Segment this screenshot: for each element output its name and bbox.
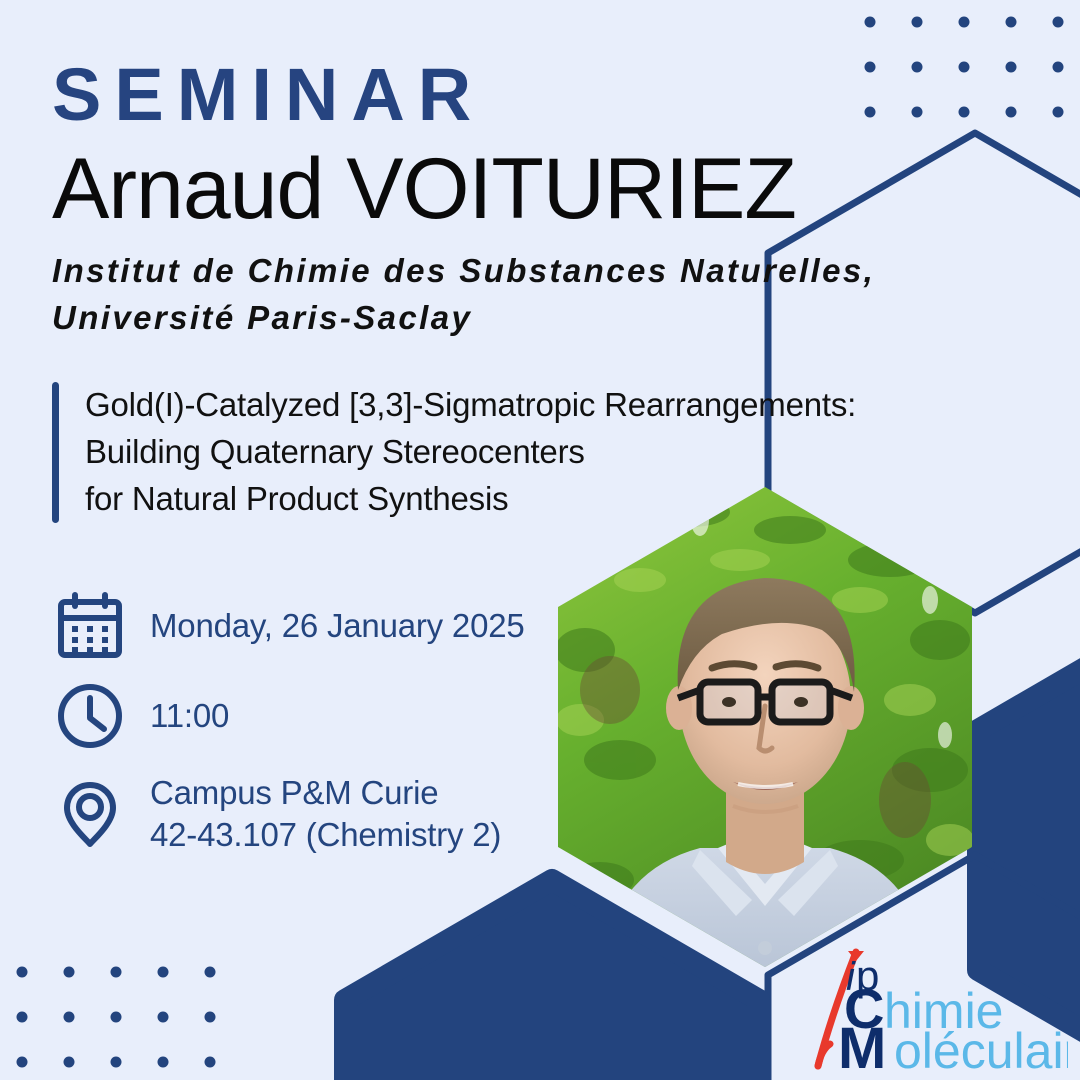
clock-icon bbox=[56, 682, 124, 750]
detail-date-text: Monday, 26 January 2025 bbox=[150, 605, 525, 647]
detail-row-location: Campus P&M Curie 42-43.107 (Chemistry 2) bbox=[56, 772, 525, 856]
accent-bar bbox=[52, 382, 59, 523]
location-pin-icon bbox=[56, 780, 124, 848]
talk-title-block: Gold(I)-Catalyzed [3,3]-Sigmatropic Rear… bbox=[52, 382, 856, 523]
seminar-poster: SEMINAR Arnaud VOITURIEZ Institut de Chi… bbox=[0, 0, 1080, 1080]
talk-title: Gold(I)-Catalyzed [3,3]-Sigmatropic Rear… bbox=[85, 382, 856, 523]
detail-row-date: Monday, 26 January 2025 bbox=[56, 592, 525, 660]
detail-row-time: 11:00 bbox=[56, 682, 525, 750]
page-kicker: SEMINAR bbox=[52, 58, 484, 132]
speaker-affiliation: Institut de Chimie des Substances Nature… bbox=[52, 248, 882, 342]
ipcm-logo: i p C himie M oléculaire bbox=[812, 944, 1068, 1074]
event-details: Monday, 26 January 2025 11:00 Campus P&M… bbox=[56, 592, 525, 878]
speaker-name: Arnaud VOITURIEZ bbox=[52, 144, 796, 234]
detail-location-text: Campus P&M Curie 42-43.107 (Chemistry 2) bbox=[150, 772, 501, 856]
detail-time-text: 11:00 bbox=[150, 695, 229, 737]
calendar-icon bbox=[56, 592, 124, 660]
logo-word-oleculaire: oléculaire bbox=[894, 1023, 1068, 1074]
logo-letter-m: M bbox=[838, 1016, 886, 1074]
